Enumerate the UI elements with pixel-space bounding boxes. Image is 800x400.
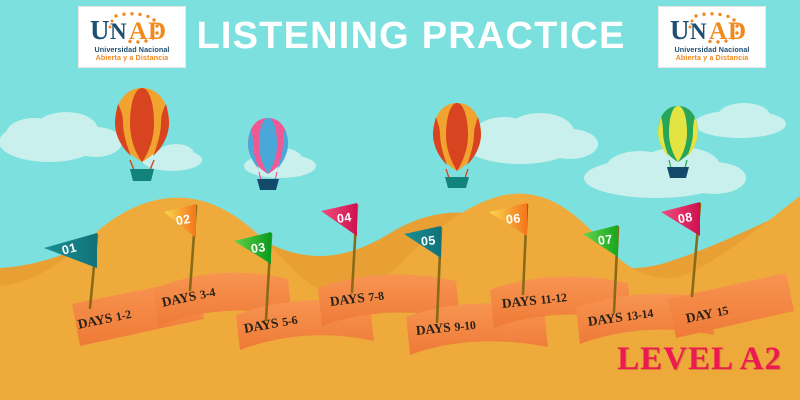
unad-logo-subtitle-line2: Abierta y a Distancia [96,54,169,62]
svg-text:N: N [110,19,127,44]
svg-text:D: D [148,18,166,45]
svg-text:A: A [709,18,727,45]
unad-logo-mark: U N A D [86,12,178,46]
svg-text:D: D [728,18,746,45]
svg-text:N: N [690,19,707,44]
listening-practice-poster: LISTENING PRACTICE U N A D Universidad N… [0,0,800,400]
svg-text:U: U [90,15,110,45]
page-title: LISTENING PRACTICE [186,14,636,58]
svg-text:A: A [129,18,147,45]
unad-logo-mark: U N A D [666,12,758,46]
unad-logo-subtitle-line2: Abierta y a Distancia [676,54,749,62]
svg-text:U: U [670,15,690,45]
unad-logo-right: U N A D Universidad Nacional Abierta y a… [658,6,766,68]
unad-logo-left: U N A D Universidad Nacional Abierta y a… [78,6,186,68]
level-badge: LEVEL A2 [617,341,782,378]
